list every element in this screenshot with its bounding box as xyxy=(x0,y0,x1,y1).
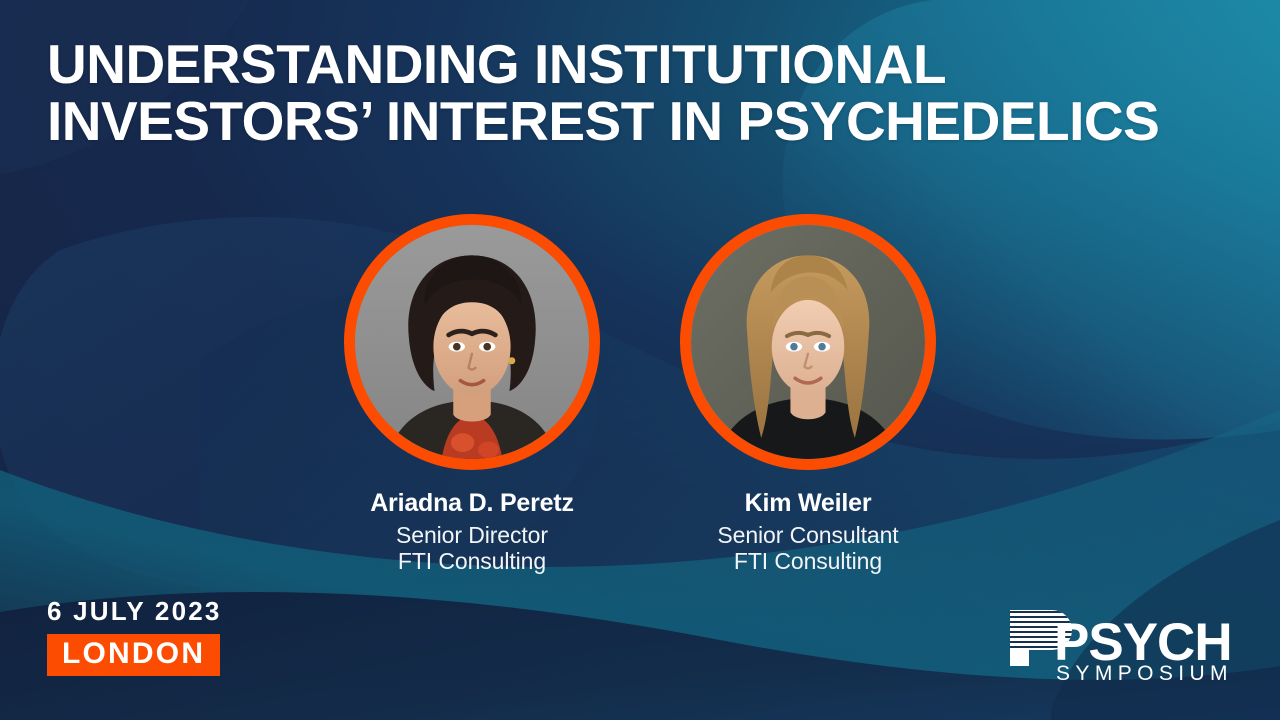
portrait-kim-weiler xyxy=(691,225,925,459)
event-date: 6 JULY 2023 xyxy=(47,596,222,627)
speaker-organisation: FTI Consulting xyxy=(370,548,574,574)
speaker-role: Senior Consultant xyxy=(717,522,898,548)
speaker-organisation: FTI Consulting xyxy=(717,548,898,574)
session-slide: UNDERSTANDING INSTITUTIONAL INVESTORS’ I… xyxy=(0,0,1280,720)
logo-secondary-text: SYMPOSIUM xyxy=(1056,662,1233,682)
speaker-name: Ariadna D. Peretz xyxy=(370,491,574,516)
psych-symposium-logo: PSYCH SYMPOSIUM xyxy=(1008,608,1234,682)
speaker-card: Kim Weiler Senior Consultant FTI Consult… xyxy=(676,214,940,574)
speaker-name: Kim Weiler xyxy=(717,491,898,516)
speaker-card: Ariadna D. Peretz Senior Director FTI Co… xyxy=(340,214,604,574)
session-title: UNDERSTANDING INSTITUTIONAL INVESTORS’ I… xyxy=(47,36,1257,150)
avatar xyxy=(680,214,936,470)
speaker-list: Ariadna D. Peretz Senior Director FTI Co… xyxy=(0,214,1280,574)
speaker-meta: Kim Weiler Senior Consultant FTI Consult… xyxy=(717,491,898,574)
speaker-meta: Ariadna D. Peretz Senior Director FTI Co… xyxy=(370,491,574,574)
avatar xyxy=(344,214,600,470)
event-details: 6 JULY 2023 LONDON xyxy=(47,596,222,676)
portrait-ariadna-peretz xyxy=(355,225,589,459)
event-city-badge: LONDON xyxy=(47,634,220,676)
speaker-role: Senior Director xyxy=(370,522,574,548)
